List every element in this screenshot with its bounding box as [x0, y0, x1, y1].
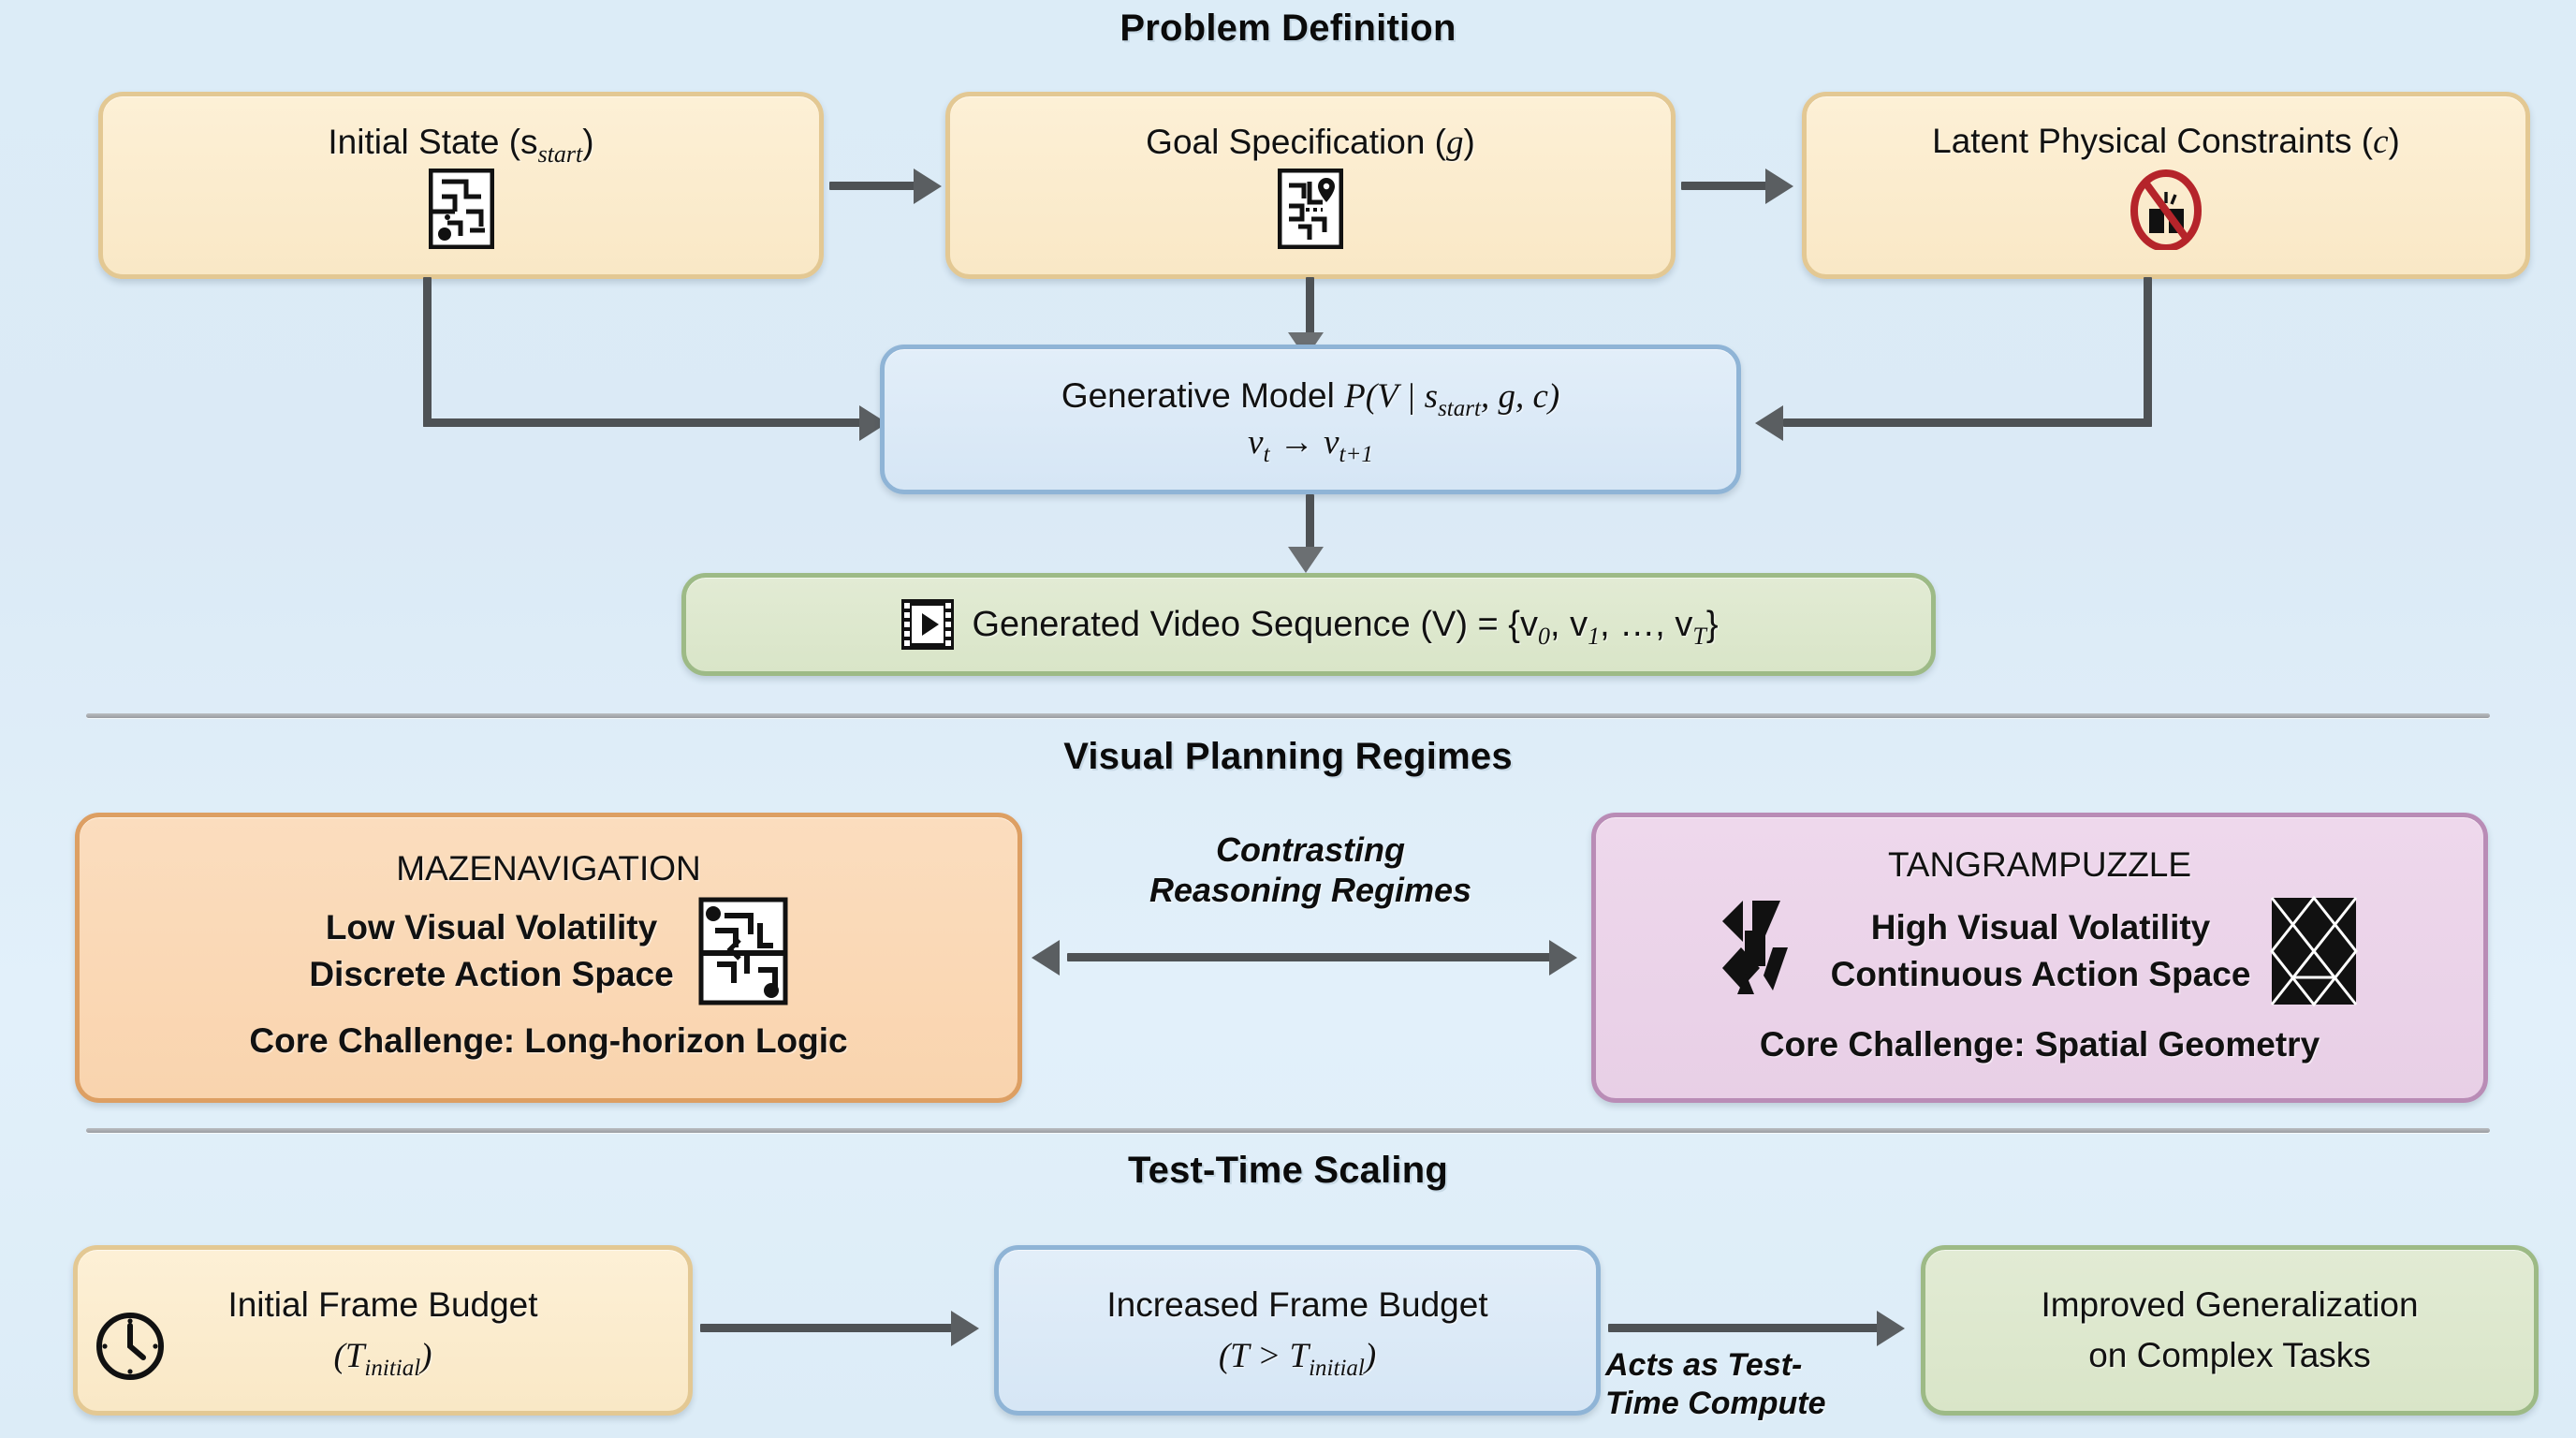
arrow-increased-to-improved-head — [1877, 1311, 1905, 1346]
node-goal-specification-label-end: ) — [1464, 123, 1475, 161]
maze-path-icon — [698, 897, 788, 1005]
diagram-canvas: Problem Definition Initial State (sstart… — [0, 0, 2576, 1438]
initial-frame-budget-open: (T — [334, 1337, 365, 1375]
elbow-constraints-to-model-horizontal — [1783, 418, 2152, 427]
generative-model-transition-sub2: t+1 — [1339, 442, 1373, 467]
elbow-constraints-to-model-head — [1755, 405, 1783, 441]
improved-generalization-line1: Improved Generalization — [1925, 1284, 2534, 1326]
node-improved-generalization-content: Improved Generalization on Complex Tasks — [1925, 1284, 2534, 1375]
increased-frame-budget-open: (T > T — [1219, 1337, 1309, 1375]
node-initial-frame-budget-content: Initial Frame Budget (Tinitial) — [78, 1284, 688, 1376]
node-latent-constraints-label-end: ) — [2389, 122, 2400, 160]
node-initial-state-content: Initial State (sstart) — [103, 122, 819, 249]
double-arrow-line — [1067, 953, 1554, 961]
video-sequence-text-b: , v — [1550, 605, 1588, 644]
initial-frame-budget-sub: initial — [364, 1356, 420, 1381]
maze-navigation-name: MAZENAVIGATION — [96, 848, 1001, 889]
no-collision-icon — [2123, 164, 2209, 250]
node-improved-generalization[interactable]: Improved Generalization on Complex Tasks — [1921, 1245, 2539, 1416]
node-generative-model-content: Generative Model P(V | sstart, g, c) vt … — [885, 375, 1736, 462]
node-initial-state-label-end: ) — [582, 123, 593, 161]
node-increased-frame-budget-content: Increased Frame Budget (T > Tinitial) — [999, 1284, 1596, 1376]
video-sequence-sub-1: 1 — [1588, 623, 1600, 650]
arrow-increased-to-improved-line — [1608, 1324, 1880, 1332]
arrow-model-to-video-line — [1306, 494, 1314, 552]
section-title-visual-planning-regimes: Visual Planning Regimes — [0, 736, 2576, 778]
tangram-square-icon — [2267, 893, 2361, 1009]
node-goal-specification[interactable]: Goal Specification (g) — [945, 92, 1676, 279]
initial-frame-budget-close: ) — [420, 1337, 432, 1375]
increased-frame-budget-close: ) — [1365, 1337, 1376, 1375]
double-arrow-head-left — [1032, 940, 1060, 976]
node-latent-physical-constraints-content: Latent Physical Constraints (c) — [1807, 121, 2525, 251]
node-video-sequence-content: Generated Video Sequence (V) = {v0, v1, … — [686, 595, 1931, 653]
elbow-initial-to-model-vertical — [423, 277, 432, 427]
generative-model-label: Generative Model — [1061, 376, 1344, 415]
elbow-constraints-to-model-vertical — [2144, 277, 2152, 427]
increased-frame-budget-sub: initial — [1309, 1356, 1365, 1381]
section-title-test-time-scaling: Test-Time Scaling — [0, 1150, 2576, 1192]
tangram-puzzle-name: TANGRAMPUZZLE — [1609, 844, 2470, 886]
generative-model-formula-sub: start — [1438, 396, 1481, 421]
section-divider-1 — [86, 713, 2490, 718]
node-maze-navigation-content: MAZENAVIGATION Low Visual Volatility Dis… — [80, 854, 1017, 1061]
generative-model-transition-a: v — [1248, 423, 1263, 462]
video-sequence-text-d: } — [1706, 605, 1719, 644]
arrow-initial-to-increased-head — [951, 1311, 979, 1346]
generative-model-formula-b: , g, c) — [1481, 377, 1559, 416]
maze-navigation-line2: Discrete Action Space — [309, 954, 673, 995]
video-sequence-sub-0: 0 — [1538, 623, 1550, 650]
arrow-goal-to-constraints-line — [1681, 182, 1767, 190]
double-arrow-head-right — [1549, 940, 1577, 976]
edge-label-acts-as-test-time-compute: Acts as Test- Time Compute — [1605, 1346, 1905, 1423]
tangram-puzzle-line2: Continuous Action Space — [1831, 954, 2251, 995]
maze-goal-pin-icon — [1278, 169, 1343, 249]
generative-model-transition-sub1: t — [1264, 442, 1270, 467]
edge-label-contrasting-reasoning-regimes: Contrasting Reasoning Regimes — [1030, 829, 1591, 910]
node-maze-navigation[interactable]: MAZENAVIGATION Low Visual Volatility Dis… — [75, 813, 1022, 1103]
arrow-initial-to-goal-head — [914, 169, 942, 204]
elbow-initial-to-model-horizontal — [423, 418, 863, 427]
maze-navigation-line3: Core Challenge: Long-horizon Logic — [96, 1020, 1001, 1062]
video-sequence-sub-T: T — [1692, 623, 1705, 650]
tangram-pieces-icon — [1719, 893, 1814, 1009]
node-goal-specification-var: g — [1446, 124, 1464, 162]
node-initial-state-label: Initial State (s — [328, 123, 537, 161]
generative-model-transition-arrow: → — [1270, 422, 1325, 461]
section-title-problem-definition: Problem Definition — [0, 7, 2576, 50]
arrow-initial-to-goal-line — [829, 182, 915, 190]
tangram-puzzle-line3: Core Challenge: Spatial Geometry — [1609, 1024, 2470, 1065]
edge-label-contrasting-line2: Reasoning Regimes — [1030, 870, 1591, 910]
improved-generalization-line2: on Complex Tasks — [1925, 1335, 2534, 1376]
node-latent-constraints-var: c — [2373, 123, 2388, 161]
arrow-goal-to-constraints-head — [1765, 169, 1793, 204]
generative-model-formula-a: P(V | s — [1344, 377, 1438, 416]
tangram-puzzle-line1: High Visual Volatility — [1831, 907, 2251, 948]
node-generated-video-sequence[interactable]: Generated Video Sequence (V) = {v0, v1, … — [681, 573, 1936, 676]
increased-frame-budget-line1: Increased Frame Budget — [999, 1284, 1596, 1326]
edge-label-contrasting-line1: Contrasting — [1030, 829, 1591, 870]
arrow-model-to-video-head — [1288, 547, 1324, 573]
video-sequence-text-c: , …, v — [1600, 605, 1692, 644]
node-latent-constraints-label: Latent Physical Constraints ( — [1932, 122, 2373, 160]
node-latent-physical-constraints[interactable]: Latent Physical Constraints (c) — [1802, 92, 2530, 279]
node-initial-state-subscript: start — [538, 140, 583, 168]
node-generative-model[interactable]: Generative Model P(V | sstart, g, c) vt … — [880, 345, 1741, 494]
maze-navigation-line1: Low Visual Volatility — [309, 907, 673, 948]
node-tangram-puzzle-content: TANGRAMPUZZLE High Visual Volatility Con… — [1596, 850, 2483, 1064]
node-goal-specification-content: Goal Specification (g) — [950, 122, 1671, 250]
section-divider-2 — [86, 1128, 2490, 1133]
initial-frame-budget-line1: Initial Frame Budget — [78, 1284, 688, 1326]
generative-model-transition-b: v — [1324, 423, 1339, 462]
node-increased-frame-budget[interactable]: Increased Frame Budget (T > Tinitial) — [994, 1245, 1601, 1416]
node-initial-frame-budget[interactable]: Initial Frame Budget (Tinitial) — [73, 1245, 693, 1416]
film-play-icon — [899, 595, 957, 653]
clock-icon — [95, 1311, 166, 1382]
arrow-initial-to-increased-line — [700, 1324, 953, 1332]
edge-label-acts-line2: Time Compute — [1605, 1385, 1905, 1423]
node-tangram-puzzle[interactable]: TANGRAMPUZZLE High Visual Volatility Con… — [1591, 813, 2488, 1103]
node-goal-specification-label: Goal Specification ( — [1146, 123, 1446, 161]
edge-label-acts-line1: Acts as Test- — [1605, 1346, 1905, 1385]
node-initial-state[interactable]: Initial State (sstart) — [98, 92, 824, 279]
arrow-goal-to-model-line — [1306, 277, 1314, 339]
maze-icon — [429, 169, 494, 249]
video-sequence-text-a: Generated Video Sequence (V) = {v — [972, 605, 1538, 644]
